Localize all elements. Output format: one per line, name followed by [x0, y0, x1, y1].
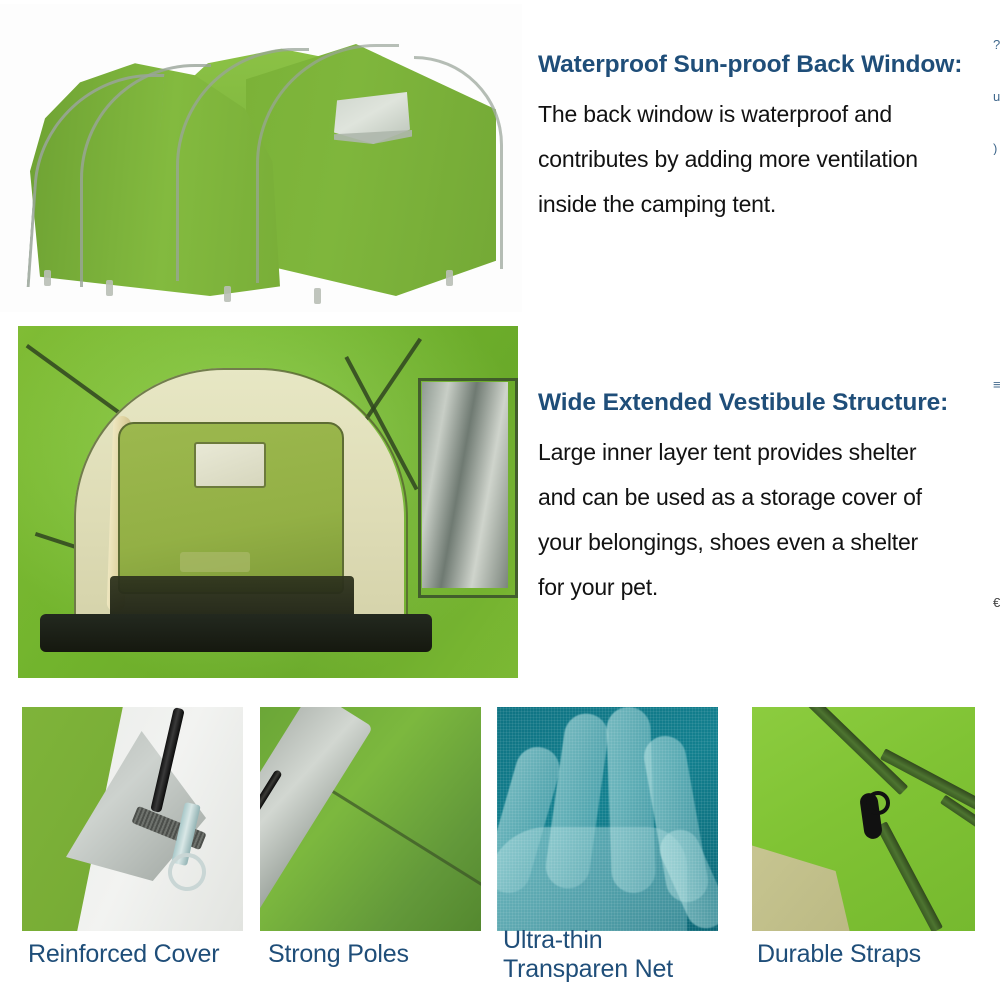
tent-peg [446, 270, 453, 286]
feature-caption-reinforced-cover: Reinforced Cover [28, 940, 219, 969]
feature-heading: Wide Extended Vestibule Structure: [538, 388, 1000, 418]
feature-body-line: for your pet. [538, 565, 1000, 610]
feature-body-line: Large inner layer tent provides shelter [538, 430, 1000, 475]
feature-heading: Waterproof Sun-proof Back Window: [538, 50, 1000, 80]
feature-body-line: inside the camping tent. [538, 182, 1000, 227]
edge-text-fragment: u [993, 90, 1000, 103]
feature-body-line: contributes by adding more ventilation [538, 137, 1000, 182]
tent-peg [314, 288, 321, 304]
tent-peg [224, 286, 231, 302]
edge-text-fragment: ≡ [993, 378, 1000, 391]
tent-exterior-photo [0, 4, 522, 312]
inner-tent-window [194, 442, 266, 488]
feature-caption-strong-poles: Strong Poles [268, 940, 409, 969]
inner-floor [110, 576, 354, 618]
tent-interior-photo [18, 326, 518, 678]
edge-text-fragment: ) [993, 142, 1000, 155]
feature-caption-transparent-net: Ultra-thin Transparen Net [503, 926, 673, 984]
feature-text-back-window: Waterproof Sun-proof Back Window: The ba… [538, 50, 1000, 227]
tent-rear-edge [414, 56, 503, 269]
feature-caption-durable-straps: Durable Straps [757, 940, 921, 969]
tent-peg [44, 270, 51, 286]
feature-body-line: your belongings, shoes even a shelter [538, 520, 1000, 565]
plastic-hook-eye [866, 791, 890, 815]
edge-text-fragment: ? [993, 38, 1000, 51]
edge-text-fragment: € [993, 596, 1000, 609]
tent-side-frame [418, 378, 518, 598]
feature-body-line: and can be used as a storage cover of [538, 475, 1000, 520]
feature-thumb-reinforced-cover [22, 707, 243, 931]
feature-thumb-durable-straps [752, 707, 975, 931]
mesh-net-overlay [497, 707, 718, 931]
feature-thumb-strong-poles [260, 707, 481, 931]
inner-tent-pocket [180, 552, 250, 572]
tent-groundsheet [40, 614, 432, 652]
tent-peg [106, 280, 113, 296]
feature-text-vestibule: Wide Extended Vestibule Structure: Large… [538, 388, 1000, 610]
feature-body-line: The back window is waterproof and [538, 92, 1000, 137]
tent-illustration [28, 34, 496, 292]
feature-thumbnail-row [0, 707, 1000, 931]
infographic-page: Waterproof Sun-proof Back Window: The ba… [0, 0, 1000, 1000]
feature-thumb-transparent-net [497, 707, 718, 931]
